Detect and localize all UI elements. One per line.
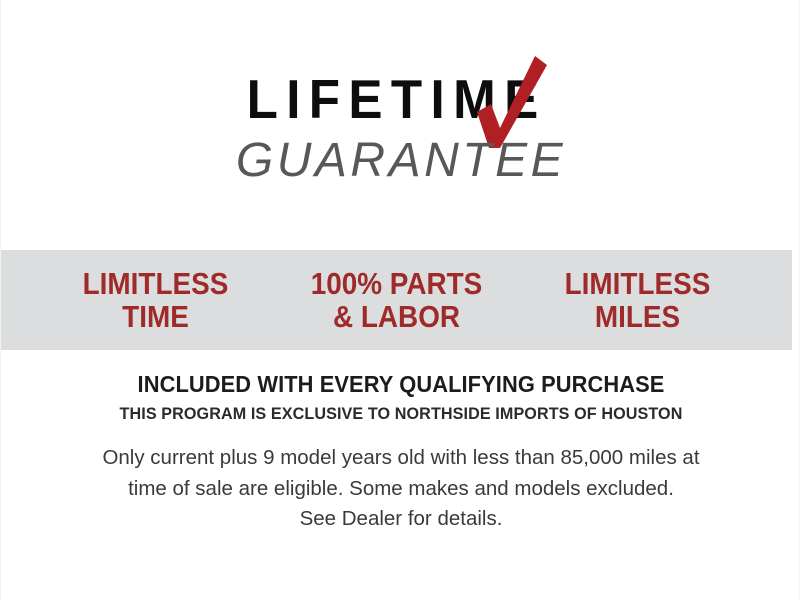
included-headline: INCLUDED WITH EVERY QUALIFYING PURCHASE bbox=[21, 372, 781, 398]
disclaimer-text: Only current plus 9 model years old with… bbox=[31, 443, 771, 534]
benefit-line-2: MILES bbox=[529, 300, 746, 333]
disclaimer-line: time of sale are eligible. Some makes an… bbox=[31, 474, 771, 504]
benefit-limitless-time: LIMITLESS TIME bbox=[47, 267, 264, 334]
benefits-band: LIMITLESS TIME 100% PARTS & LABOR LIMITL… bbox=[1, 250, 792, 350]
copy-block: INCLUDED WITH EVERY QUALIFYING PURCHASE … bbox=[1, 372, 800, 534]
logo-lockup: LIFETIME GUARANTEE bbox=[1, 72, 800, 185]
benefit-line-2: & LABOR bbox=[288, 300, 505, 333]
benefit-line-1: LIMITLESS bbox=[47, 267, 264, 300]
benefit-line-1: LIMITLESS bbox=[529, 267, 746, 300]
disclaimer-line: See Dealer for details. bbox=[31, 504, 771, 534]
logo-guarantee-text: GUARANTEE bbox=[1, 137, 800, 185]
benefit-line-2: TIME bbox=[47, 300, 264, 333]
benefit-parts-labor: 100% PARTS & LABOR bbox=[288, 267, 505, 334]
benefit-line-1: 100% PARTS bbox=[288, 267, 505, 300]
benefit-limitless-miles: LIMITLESS MILES bbox=[529, 267, 746, 334]
disclaimer-line: Only current plus 9 model years old with… bbox=[31, 443, 771, 473]
lifetime-guarantee-ad: LIFETIME GUARANTEE LIMITLESS TIME 100% P… bbox=[0, 0, 800, 600]
logo-lifetime-wrap: LIFETIME bbox=[235, 72, 567, 127]
logo-lifetime-text: LIFETIME bbox=[247, 72, 555, 127]
exclusive-subline: THIS PROGRAM IS EXCLUSIVE TO NORTHSIDE I… bbox=[21, 404, 781, 424]
